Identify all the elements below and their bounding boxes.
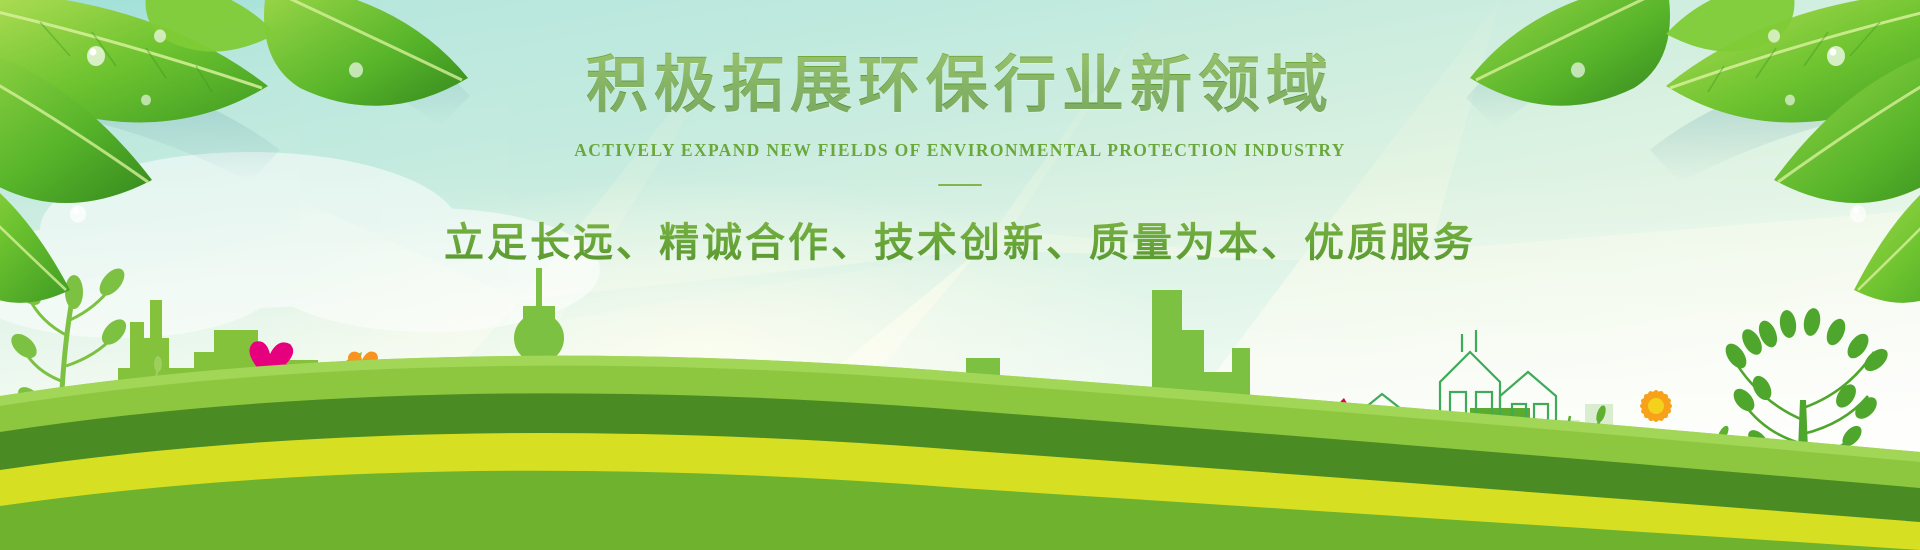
ribbon-mid [0,471,1920,550]
flower-icon [865,447,883,498]
banner-tagline: 立足长远、精诚合作、技术创新、质量为本、优质服务 [0,210,1920,268]
leaf-icon [1666,0,1794,52]
ribbon-highlight [0,356,1920,462]
left-tall-plant [7,264,131,500]
text-divider [938,184,982,186]
sunflower-icon [1620,389,1692,500]
leaf-shape [648,440,700,496]
butterfly-icon [348,352,380,381]
house-line-art-icon [1355,330,1558,500]
center-buildings [940,290,1304,498]
flower-icon [836,398,848,410]
hummingbird-icon [1300,398,1404,474]
flower-icon [1589,437,1607,500]
ribbon-yellow [0,433,1920,550]
butterfly-icon [249,341,296,384]
left-buildings [118,300,318,498]
tree-icon [1721,307,1891,500]
oriental-pearl-tower-icon [512,268,566,498]
eco-banner: 积极拓展环保行业新领域 ACTIVELY EXPAND NEW FIELDS O… [0,0,1920,550]
sapling-icon [258,352,362,504]
bicycle-icon [334,372,518,492]
far-buildings [95,372,1613,495]
leaf-icon [146,0,276,52]
banner-subtitle: ACTIVELY EXPAND NEW FIELDS OF ENVIRONMEN… [0,140,1920,161]
tree-leaves [1721,307,1891,454]
page-title: 积极拓展环保行业新领域 [0,52,1920,118]
flower-icon [214,428,238,498]
banner-text-block: 积极拓展环保行业新领域 ACTIVELY EXPAND NEW FIELDS O… [0,52,1920,268]
ribbon-light [0,356,1920,550]
ladybug-icon [1006,485,1018,499]
ladybug-icon [239,431,277,464]
leaf-shape [706,438,752,496]
ribbon-dark [0,393,1920,550]
sprout-buds [632,370,769,449]
sprout-icon [644,384,756,494]
reed-grass-icon [1565,416,1722,500]
house-windows [1414,444,1513,456]
house-block [1368,408,1586,500]
